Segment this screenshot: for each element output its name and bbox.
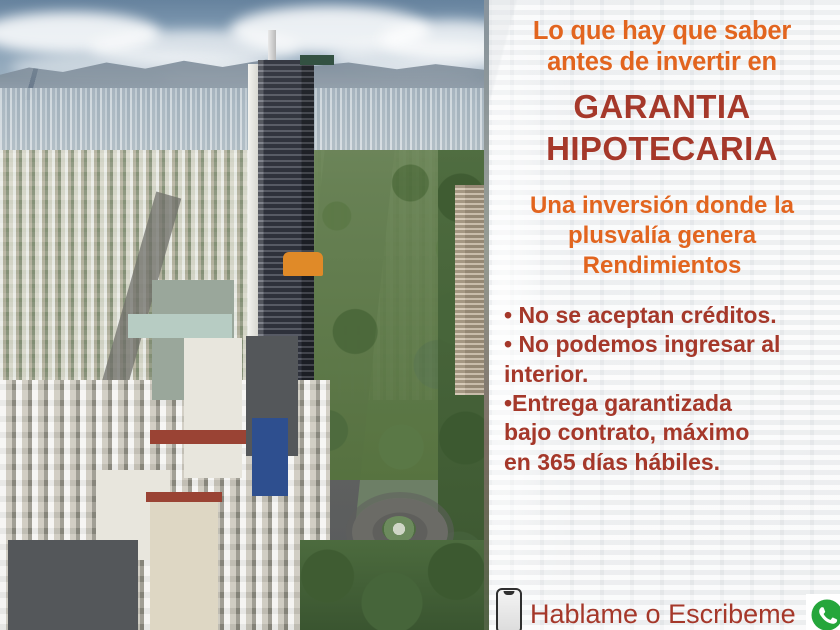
- glass-roof-strip: [128, 314, 232, 338]
- blue-glass-building: [252, 418, 288, 496]
- headline-line-1: Lo que hay que saber: [494, 16, 830, 47]
- text-panel: Lo que hay que saber antes de invertir e…: [484, 0, 840, 630]
- real-estate-ad-poster: Lo que hay que saber antes de invertir e…: [0, 0, 840, 630]
- contact-label: Hablame o Escribeme: [530, 601, 796, 630]
- tower-crown: [300, 55, 334, 65]
- list-item: •Entrega garantizada: [504, 389, 830, 418]
- subheadline: Una inversión donde la plusvalía genera …: [494, 191, 830, 280]
- cityscape-photo: [0, 0, 484, 630]
- brand-line-1: GARANTIA: [494, 86, 830, 128]
- orange-rooftop-building: [283, 252, 323, 276]
- smartphone-icon: [496, 588, 522, 630]
- subheadline-line-3: Rendimientos: [494, 251, 830, 281]
- fountain: [382, 516, 416, 542]
- white-tower-block: [184, 338, 242, 478]
- red-roof: [146, 492, 222, 502]
- bottom-trees: [300, 540, 484, 630]
- list-item: interior.: [504, 360, 830, 389]
- whatsapp-icon[interactable]: [806, 594, 840, 630]
- brand-line-2: HIPOTECARIA: [494, 128, 830, 170]
- red-roof: [150, 430, 246, 444]
- beige-tower: [150, 498, 218, 630]
- dark-roof-building: [8, 540, 138, 630]
- list-item: • No se aceptan créditos.: [504, 301, 830, 330]
- list-item: • No podemos ingresar al: [504, 330, 830, 359]
- headline-line-2: antes de invertir en: [494, 47, 830, 78]
- headline: Lo que hay que saber antes de invertir e…: [494, 16, 830, 78]
- list-item: bajo contrato, máximo: [504, 418, 830, 447]
- brand-title: GARANTIA HIPOTECARIA: [494, 86, 830, 169]
- list-item: en 365 días hábiles.: [504, 448, 830, 477]
- conditions-list: • No se aceptan créditos. • No podemos i…: [494, 301, 830, 478]
- contact-bar: Hablame o Escribeme: [484, 576, 840, 630]
- subheadline-line-2: plusvalía genera: [494, 221, 830, 251]
- subheadline-line-1: Una inversión donde la: [494, 191, 830, 221]
- right-edge-tower: [455, 185, 484, 395]
